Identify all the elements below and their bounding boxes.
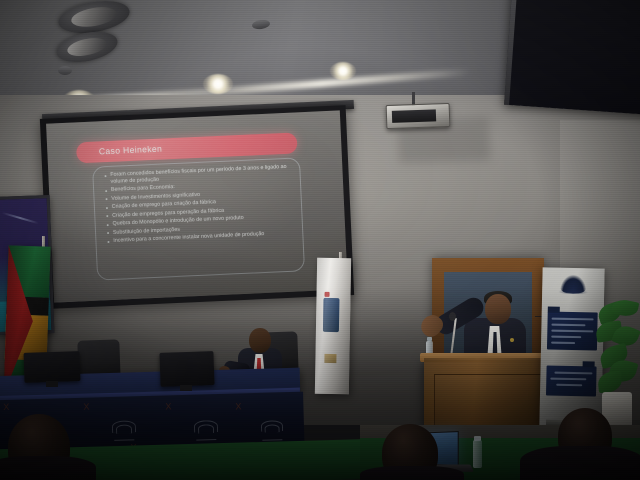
speaker-head — [485, 294, 511, 324]
monitor — [159, 351, 214, 387]
ceiling-downlight-icon — [330, 62, 356, 80]
organization-crest-icon — [110, 420, 139, 443]
monitor-stand — [180, 385, 192, 391]
audience-body — [360, 466, 464, 480]
organization-crest-icon — [192, 420, 221, 443]
audience-body — [0, 456, 96, 480]
roll-up-banner — [539, 267, 604, 426]
institutional-white-flag — [315, 258, 351, 395]
microphone-icon — [449, 312, 456, 321]
projector-lens-icon — [392, 109, 436, 123]
potted-plant — [596, 300, 640, 430]
conference-room-photo: Caso Heineken Foram concedidos benefício… — [0, 0, 640, 480]
panelist-head — [249, 328, 271, 353]
lapel-pin-icon — [510, 338, 514, 342]
wall-display-panel — [504, 0, 640, 115]
water-bottle-icon — [473, 440, 482, 468]
organization-crest-icon — [258, 420, 287, 443]
projection-screen: Caso Heineken Foram concedidos benefício… — [40, 105, 354, 309]
monitor-stand — [46, 381, 58, 387]
ceiling-mounted-projector — [386, 103, 451, 129]
audience-body — [520, 446, 640, 480]
smoke-detector-icon — [58, 66, 72, 75]
screen-surface: Caso Heineken Foram concedidos benefício… — [46, 110, 348, 302]
monitor — [23, 351, 80, 383]
wooden-podium — [424, 358, 552, 434]
ceiling-downlight-icon — [203, 74, 233, 94]
